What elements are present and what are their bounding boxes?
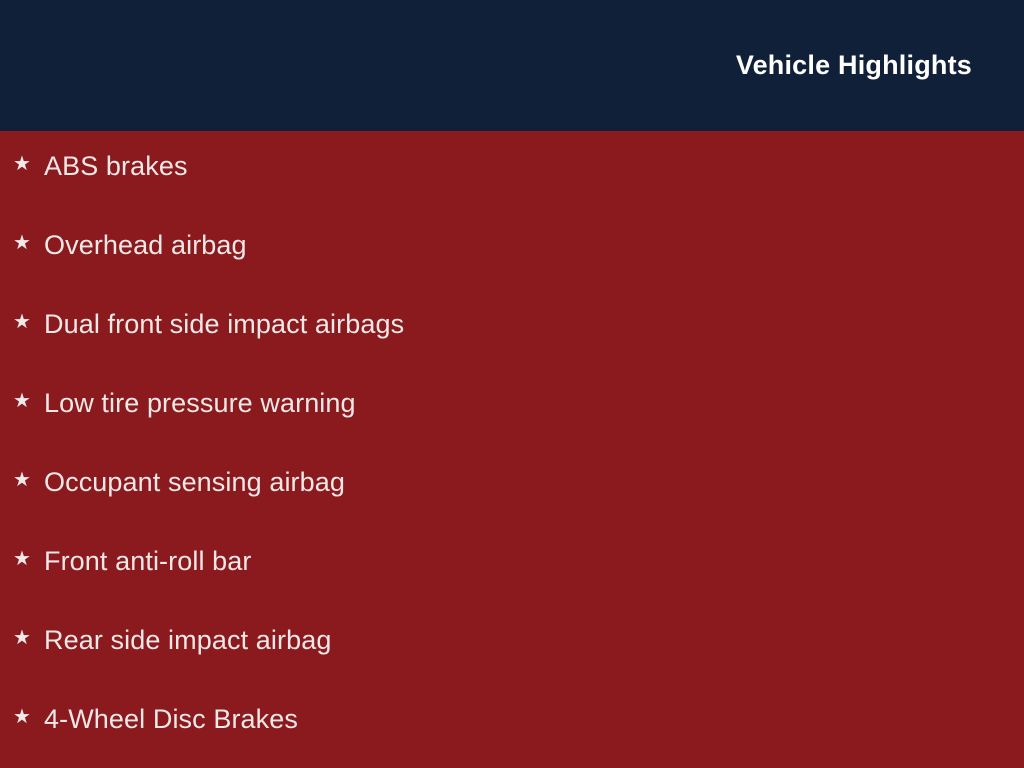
highlight-label: 4-Wheel Disc Brakes <box>44 706 298 733</box>
highlight-label: Front anti-roll bar <box>44 548 251 575</box>
star-bullet-icon: ★ <box>13 391 44 411</box>
star-bullet-icon: ★ <box>13 628 44 648</box>
list-item: ★ Dual front side impact airbags <box>0 311 1024 390</box>
list-item: ★ Rear side impact airbag <box>0 627 1024 706</box>
list-item: ★ Front anti-roll bar <box>0 548 1024 627</box>
list-item: ★ 4-Wheel Disc Brakes <box>0 706 1024 768</box>
list-item: ★ Low tire pressure warning <box>0 390 1024 469</box>
list-item: ★ Occupant sensing airbag <box>0 469 1024 548</box>
star-bullet-icon: ★ <box>13 233 44 253</box>
vehicle-highlights-slide: Vehicle Highlights ★ ABS brakes ★ Overhe… <box>0 0 1024 768</box>
highlight-label: Occupant sensing airbag <box>44 469 345 496</box>
star-bullet-icon: ★ <box>13 312 44 332</box>
list-item: ★ ABS brakes <box>0 153 1024 232</box>
list-item: ★ Overhead airbag <box>0 232 1024 311</box>
highlight-label: Low tire pressure warning <box>44 390 356 417</box>
highlight-label: ABS brakes <box>44 153 188 180</box>
vehicle-highlights-list: ★ ABS brakes ★ Overhead airbag ★ Dual fr… <box>0 131 1024 768</box>
page-title: Vehicle Highlights <box>736 0 972 131</box>
highlights-body: ★ ABS brakes ★ Overhead airbag ★ Dual fr… <box>0 131 1024 768</box>
star-bullet-icon: ★ <box>13 707 44 727</box>
star-bullet-icon: ★ <box>13 549 44 569</box>
star-bullet-icon: ★ <box>13 154 44 174</box>
header-band: Vehicle Highlights <box>0 0 1024 131</box>
highlight-label: Dual front side impact airbags <box>44 311 404 338</box>
star-bullet-icon: ★ <box>13 470 44 490</box>
highlight-label: Rear side impact airbag <box>44 627 331 654</box>
highlight-label: Overhead airbag <box>44 232 247 259</box>
